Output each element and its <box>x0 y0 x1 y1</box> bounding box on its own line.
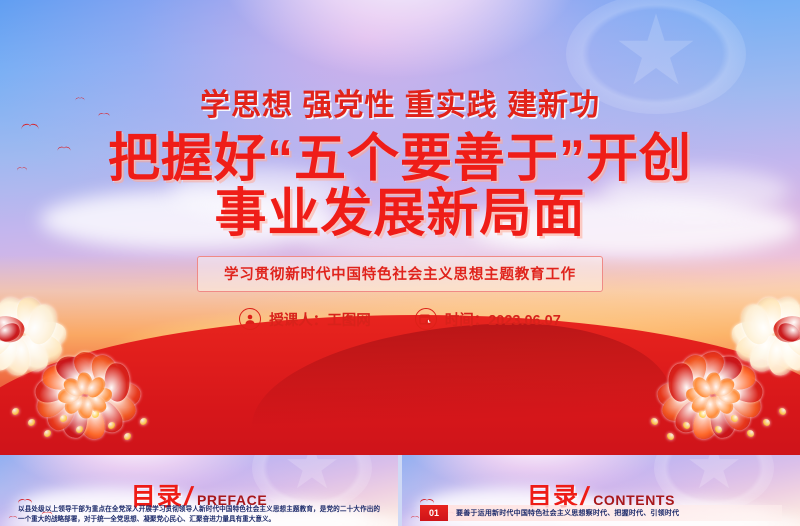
presenter-meta: 授课人：工图网 <box>239 308 371 330</box>
item-label: 要善于运用新时代中国特色社会主义思想察时代、把握时代、引领时代 <box>448 505 782 521</box>
flower-petal <box>28 419 35 426</box>
banner-title-line1: 把握好“五个要善于”开创 <box>108 130 692 188</box>
list-item[interactable]: 01 要善于运用新时代中国特色社会主义思想察时代、把握时代、引领时代 <box>420 505 782 521</box>
flower-petal <box>44 430 51 437</box>
presenter-label: 授课人：工图网 <box>269 309 371 330</box>
person-icon <box>239 308 261 330</box>
flower-petal <box>12 408 19 415</box>
calendar-clock-icon <box>415 308 437 330</box>
bottom-panels: 目录 / PREFACE 以县处级以上领导干部为重点在全党深入开展学习贯彻领导人… <box>0 455 800 526</box>
flower-petal <box>779 408 786 415</box>
banner-text-block: 学思想 强党性 重实践 建新功 把握好“五个要善于”开创 事业发展新局面 学习贯… <box>0 0 800 330</box>
flower-petal <box>140 418 147 425</box>
date-label: 时间：2023.06.07 <box>445 309 561 330</box>
banner-kicker: 学思想 强党性 重实践 建新功 <box>0 80 800 124</box>
banner-title-line2: 事业发展新局面 <box>0 187 800 242</box>
item-number-badge: 01 <box>420 505 448 521</box>
flower-petal <box>683 422 690 429</box>
main-banner: 学思想 强党性 重实践 建新功 把握好“五个要善于”开创 事业发展新局面 学习贯… <box>0 0 800 455</box>
date-meta: 时间：2023.06.07 <box>415 308 561 330</box>
preface-paragraph: 以县处级以上领导干部为重点在全党深入开展学习贯彻领导人新时代中国特色社会主义思想… <box>18 505 380 525</box>
flower-petal <box>715 426 722 433</box>
flower-petal <box>763 419 770 426</box>
flower-petal <box>651 418 658 425</box>
flower-petal <box>667 433 674 440</box>
flower-petal <box>124 433 131 440</box>
panel-preface[interactable]: 目录 / PREFACE 以县处级以上领导干部为重点在全党深入开展学习贯彻领导人… <box>0 455 398 526</box>
bird-icon <box>411 516 419 520</box>
bird-icon <box>9 516 17 520</box>
flower-petal <box>731 415 738 422</box>
panel-contents[interactable]: 目录 / CONTENTS 01 要善于运用新时代中国特色社会主义思想察时代、把… <box>402 455 800 526</box>
banner-title: 把握好“五个要善于”开创 事业发展新局面 <box>0 132 800 242</box>
banner-subtitle: 学习贯彻新时代中国特色社会主义思想主题教育工作 <box>197 256 603 292</box>
flower-petal <box>699 411 706 418</box>
banner-meta-row: 授课人：工图网 时间：2023.06.07 <box>0 308 800 330</box>
flower-petal <box>747 430 754 437</box>
preface-body: 以县处级以上领导干部为重点在全党深入开展学习贯彻领导人新时代中国特色社会主义思想… <box>18 505 380 525</box>
contents-body: 01 要善于运用新时代中国特色社会主义思想察时代、把握时代、引领时代 <box>420 505 782 521</box>
poster-stage: 学思想 强党性 重实践 建新功 把握好“五个要善于”开创 事业发展新局面 学习贯… <box>0 0 800 526</box>
